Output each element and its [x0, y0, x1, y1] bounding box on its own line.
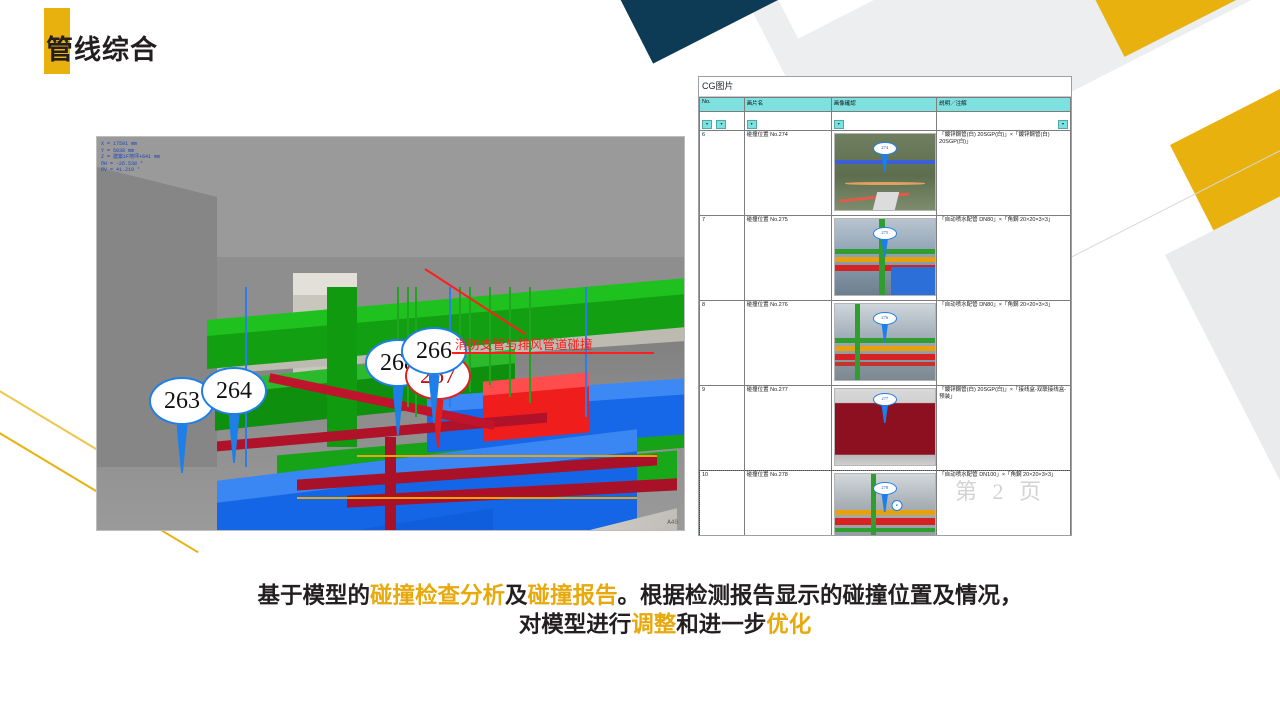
cell-row-no: 9	[700, 386, 745, 471]
cell-clash-name: 碰撞位置 No.275	[744, 216, 831, 301]
caption-highlight-3: 调整	[631, 612, 676, 638]
thumb-element-vertical	[855, 304, 860, 380]
thumb-tag-label: 278	[873, 482, 897, 495]
column-header-description[interactable]: 説明／注解	[937, 98, 1071, 112]
deco-navy-notch	[730, 0, 905, 39]
annotation-underline	[452, 352, 654, 354]
filter-cell-image[interactable]: ▾	[831, 112, 936, 131]
table-row[interactable]: 9 碰撞位置 No.277 277 「鍍锌鋼管(白) 20SGP(白)」×「接线…	[700, 386, 1071, 471]
clash-thumbnail-image: 276	[834, 303, 936, 381]
callout-pointer-icon	[177, 425, 188, 473]
thumb-tag-label: 276	[873, 312, 897, 325]
cell-thumbnail[interactable]: 274	[831, 131, 936, 216]
callout-bubble-label: 264	[201, 367, 267, 415]
thumb-tag-label: 277	[873, 393, 897, 406]
page-number: 第 2 页	[955, 474, 1046, 506]
deco-gold-shape-top	[1070, 0, 1240, 57]
thumb-pointer-icon	[881, 492, 888, 512]
caption-text-1: 基于模型的	[257, 583, 370, 609]
thumb-tag-label: 275	[873, 227, 897, 240]
cell-description: 「自动喷水配管 DN80」×「角鋼 20×20×3×3」	[937, 301, 1071, 386]
cell-thumbnail[interactable]: 278 ●	[831, 471, 936, 537]
cell-row-no: 8	[700, 301, 745, 386]
filter-cell-no[interactable]: ▾ ▾	[700, 112, 745, 131]
thumb-pointer-icon	[881, 403, 888, 423]
column-header-no[interactable]: No.	[700, 98, 745, 112]
duct-green-vertical-1	[327, 287, 357, 447]
clash-thumbnail-image: 274	[834, 133, 936, 211]
callout-pointer-icon	[429, 375, 440, 423]
filter-dropdown-icon[interactable]: ▾	[1058, 120, 1068, 129]
cell-description: 「鍍锌鋼管(白) 20SGP(白)」×「鍍锌鋼管(白) 20SGP(白)」	[937, 131, 1071, 216]
cell-row-no: 6	[700, 131, 745, 216]
clash-thumbnail-image: 275	[834, 218, 936, 296]
filter-cell-description[interactable]: ▾	[937, 112, 1071, 131]
report-title: CG图片	[699, 77, 1071, 97]
cell-clash-name: 碰撞位置 No.276	[744, 301, 831, 386]
filter-dropdown-icon[interactable]: ▾	[702, 120, 712, 129]
cell-clash-name: 碰撞位置 No.278	[744, 471, 831, 537]
column-header-name[interactable]: 画片名	[744, 98, 831, 112]
thumb-element-orange	[845, 182, 925, 185]
caption-text-2: 及	[505, 583, 528, 609]
thumb-element-red-2	[835, 362, 935, 366]
filter-cell-name[interactable]: ▾	[744, 112, 831, 131]
cell-clash-name: 碰撞位置 No.274	[744, 131, 831, 216]
cell-description: 「自动喷水配管 DN80」×「角鋼 20×20×3×3」	[937, 216, 1071, 301]
cell-row-no: 10	[700, 471, 745, 537]
clash-thumbnail-image: 278 ●	[834, 473, 936, 536]
caption-text-5: 和进一步	[676, 612, 766, 638]
caption-highlight-4: 优化	[766, 612, 811, 638]
caption-highlight-1: 碰撞检查分析	[370, 583, 505, 609]
thumb-element-orange	[835, 346, 935, 351]
filter-dropdown-icon[interactable]: ▾	[716, 120, 726, 129]
viewport-corner-label: A40	[667, 519, 678, 526]
column-header-image[interactable]: 画像確認	[831, 98, 936, 112]
caption-text-3: 。根据检测报告显示的碰撞位置及情况，	[618, 583, 1023, 609]
thumb-element-red	[835, 354, 935, 360]
conduit-orange-2	[297, 497, 637, 499]
slide-caption: 基于模型的碰撞检查分析及碰撞报告。根据检测报告显示的碰撞位置及情况， 对模型进行…	[0, 582, 1280, 640]
page-title: 管线综合	[46, 28, 158, 67]
table-row[interactable]: 8 碰撞位置 No.276 276 「自动喷水配管 DN80」×「角鋼 20×2…	[700, 301, 1071, 386]
conduit-orange-1	[357, 455, 657, 457]
coordinate-readout: X = 17591 mmY = 5038 mmZ = 建築1F地坪+641 mm…	[101, 141, 160, 174]
caption-line-2: 对模型进行调整和进一步优化	[0, 611, 1280, 640]
thumb-element-green	[835, 528, 935, 532]
bim-3d-viewport[interactable]: X = 17591 mmY = 5038 mmZ = 建築1F地坪+641 mm…	[96, 136, 685, 531]
thumb-element-red	[835, 518, 935, 525]
cell-row-no: 7	[700, 216, 745, 301]
cell-thumbnail[interactable]: 275	[831, 216, 936, 301]
cell-clash-name: 碰撞位置 No.277	[744, 386, 831, 471]
cell-thumbnail[interactable]: 276	[831, 301, 936, 386]
caption-highlight-2: 碰撞报告	[528, 583, 618, 609]
filter-dropdown-icon[interactable]: ▾	[834, 120, 844, 129]
cell-thumbnail[interactable]: 277	[831, 386, 936, 471]
callout-pointer-icon	[229, 415, 240, 463]
clash-report-panel[interactable]: CG图片 No. 画片名 画像確認 説明／注解 ▾ ▾ ▾ ▾	[698, 76, 1072, 536]
caption-text-4: 对模型进行	[519, 612, 632, 638]
deco-grey-shape-2	[850, 0, 1280, 37]
table-row[interactable]: 6 碰撞位置 No.274 274 「鍍锌鋼管(白) 20SGP(白)」×「鍍锌…	[700, 131, 1071, 216]
thumb-element-grey	[873, 192, 899, 210]
filter-dropdown-icon[interactable]: ▾	[747, 120, 757, 129]
callout-264[interactable]: 264	[201, 367, 267, 463]
pipe-red-vertical	[385, 437, 396, 531]
thumb-element-orange	[835, 257, 935, 262]
clash-thumbnail-image: 277	[834, 388, 936, 466]
table-row[interactable]: 7 碰撞位置 No.275 275 「自动喷水配管 DN80」×「角鋼 20×2…	[700, 216, 1071, 301]
clash-annotation-text: 消防支管与排风管道碰撞	[455, 334, 593, 353]
deco-navy-shape	[585, 0, 858, 64]
thumb-tag-secondary: ●	[891, 500, 902, 511]
report-table-header: No. 画片名 画像確認 説明／注解 ▾ ▾ ▾ ▾ ▾	[700, 98, 1071, 131]
cell-description: 「鍍锌鋼管(白) 20SGP(白)」×「接线盒-双联接线盒-预装」	[937, 386, 1071, 471]
thumb-element-blue	[891, 267, 935, 295]
report-table: No. 画片名 画像確認 説明／注解 ▾ ▾ ▾ ▾ ▾	[699, 97, 1071, 536]
deco-grey-shape-right	[1165, 160, 1280, 514]
thumb-tag-label: 274	[873, 142, 897, 155]
deco-gold-shape-right	[1170, 77, 1280, 279]
